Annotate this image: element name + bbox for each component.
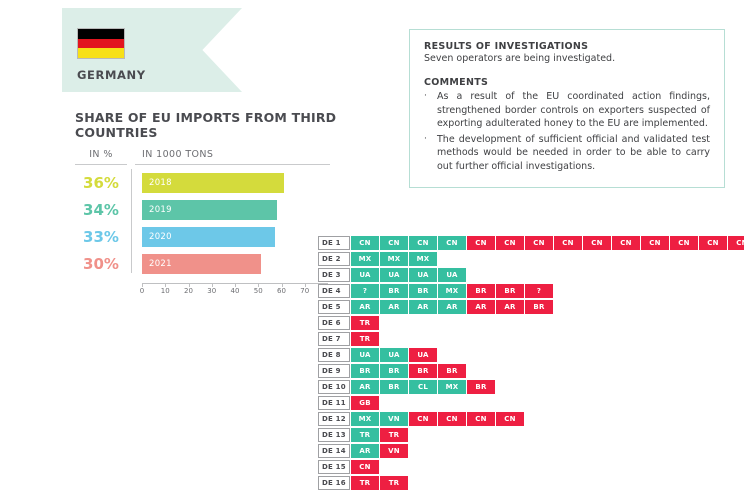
axis-tick-label: 60 — [277, 287, 286, 295]
matrix-cell: ? — [525, 284, 553, 298]
axis-tick-label: 20 — [184, 287, 193, 295]
bars-column: 2018201920202021 — [135, 169, 342, 281]
bar-2019: 2019 — [142, 200, 277, 220]
matrix-cell: BR — [380, 284, 408, 298]
matrix-cell: UA — [351, 348, 379, 362]
matrix-cell: MX — [351, 412, 379, 426]
matrix-row-label: DE 13 — [318, 428, 350, 442]
country-name: GERMANY — [77, 68, 146, 82]
matrix-cell: BR — [438, 364, 466, 378]
matrix-row: DE 14ARVN — [318, 444, 744, 458]
column-divider — [131, 169, 132, 273]
matrix-cell: AR — [380, 300, 408, 314]
results-summary: Seven operators are being investigated. — [424, 53, 710, 64]
matrix-cell: BR — [380, 380, 408, 394]
matrix-cell: ? — [351, 284, 379, 298]
matrix-cell: UA — [438, 268, 466, 282]
axis-tick-label: 30 — [207, 287, 216, 295]
matrix-cell: CN — [467, 412, 495, 426]
matrix-row-label: DE 8 — [318, 348, 350, 362]
matrix-row-label: DE 3 — [318, 268, 350, 282]
matrix-cell: CN — [699, 236, 727, 250]
country-banner: GERMANY — [62, 8, 242, 92]
chart-column-headers: IN % IN 1000 TONS — [75, 149, 365, 169]
chart-x-axis: 01020304050607080 — [142, 283, 328, 298]
comments-heading: COMMENTS — [424, 77, 710, 88]
matrix-cell: MX — [409, 252, 437, 266]
matrix-cell: UA — [409, 268, 437, 282]
axis-tick-label: 50 — [254, 287, 263, 295]
matrix-row: DE 6TR — [318, 316, 744, 330]
matrix-cell: CN — [438, 412, 466, 426]
matrix-cell: AR — [409, 300, 437, 314]
matrix-cell: TR — [351, 316, 379, 330]
matrix-cell: UA — [380, 348, 408, 362]
matrix-cell: CN — [641, 236, 669, 250]
matrix-cell: AR — [496, 300, 524, 314]
bar-label: 2019 — [149, 205, 172, 215]
comment-text: The development of sufficient official a… — [437, 133, 710, 174]
axis-tick-label: 0 — [140, 287, 144, 295]
matrix-cell: TR — [351, 476, 379, 490]
matrix-row: DE 12MXVNCNCNCNCN — [318, 412, 744, 426]
matrix-cell: CN — [438, 236, 466, 250]
comment-item: ·As a result of the EU coordinated actio… — [424, 90, 710, 131]
matrix-row: DE 3UAUAUAUA — [318, 268, 744, 282]
matrix-cell: CN — [380, 236, 408, 250]
flag-stripe-gold — [78, 48, 124, 58]
matrix-cell: UA — [409, 348, 437, 362]
column-header-tons: IN 1000 TONS — [135, 149, 330, 165]
matrix-cell: TR — [351, 428, 379, 442]
matrix-cell: GB — [351, 396, 379, 410]
flag-stripe-red — [78, 39, 124, 49]
matrix-row-label: DE 10 — [318, 380, 350, 394]
matrix-cell: MX — [438, 380, 466, 394]
comments-list: ·As a result of the EU coordinated actio… — [424, 90, 710, 173]
matrix-cell: MX — [438, 284, 466, 298]
bar-label: 2018 — [149, 178, 172, 188]
bar-row: 2021 — [142, 254, 342, 274]
matrix-cell: UA — [351, 268, 379, 282]
matrix-row: DE 2MXMXMX — [318, 252, 744, 266]
matrix-row-label: DE 16 — [318, 476, 350, 490]
matrix-cell: BR — [409, 284, 437, 298]
matrix-cell: AR — [351, 444, 379, 458]
bar-row: 2019 — [142, 200, 342, 220]
matrix-row-label: DE 7 — [318, 332, 350, 346]
percent-column: 36%34%33%30% — [75, 169, 127, 281]
chart-title: SHARE OF EU IMPORTS FROM THIRD COUNTRIES — [62, 110, 362, 140]
column-header-gap — [127, 149, 135, 165]
bar-2018: 2018 — [142, 173, 284, 193]
bar-row: 2018 — [142, 173, 342, 193]
bar-2020: 2020 — [142, 227, 275, 247]
matrix-cell: TR — [380, 428, 408, 442]
left-column: GERMANY SHARE OF EU IMPORTS FROM THIRD C… — [62, 8, 362, 298]
matrix-cell: CN — [525, 236, 553, 250]
operator-origin-matrix: DE 1CNCNCNCNCNCNCNCNCNCNCNCNCNCNDE 2MXMX… — [318, 236, 744, 492]
axis-tick-label: 70 — [300, 287, 309, 295]
bullet-icon: · — [424, 90, 437, 131]
bar-2021: 2021 — [142, 254, 261, 274]
matrix-row: DE 13TRTR — [318, 428, 744, 442]
matrix-row: DE 11GB — [318, 396, 744, 410]
matrix-row-label: DE 4 — [318, 284, 350, 298]
bar-label: 2020 — [149, 232, 172, 242]
bullet-icon: · — [424, 133, 437, 174]
comment-item: ·The development of sufficient official … — [424, 133, 710, 174]
matrix-row-label: DE 11 — [318, 396, 350, 410]
matrix-cell: VN — [380, 444, 408, 458]
comment-text: As a result of the EU coordinated action… — [437, 90, 710, 131]
results-heading: RESULTS OF INVESTIGATIONS — [424, 41, 710, 52]
matrix-cell: CN — [612, 236, 640, 250]
matrix-row: DE 1CNCNCNCNCNCNCNCNCNCNCNCNCNCN — [318, 236, 744, 250]
matrix-row-label: DE 1 — [318, 236, 350, 250]
matrix-cell: BR — [380, 364, 408, 378]
matrix-row-label: DE 12 — [318, 412, 350, 426]
matrix-row-label: DE 15 — [318, 460, 350, 474]
matrix-cell: VN — [380, 412, 408, 426]
results-of-investigations-box: RESULTS OF INVESTIGATIONS Seven operator… — [409, 29, 725, 188]
matrix-cell: MX — [351, 252, 379, 266]
flag-stripe-black — [78, 29, 124, 39]
matrix-cell: AR — [351, 300, 379, 314]
matrix-cell: CN — [583, 236, 611, 250]
matrix-row-label: DE 14 — [318, 444, 350, 458]
matrix-cell: TR — [380, 476, 408, 490]
matrix-row: DE 7TR — [318, 332, 744, 346]
bar-label: 2021 — [149, 259, 172, 269]
matrix-row-label: DE 6 — [318, 316, 350, 330]
percent-value: 33% — [75, 227, 127, 247]
matrix-row-label: DE 2 — [318, 252, 350, 266]
matrix-cell: CN — [409, 412, 437, 426]
percent-value: 34% — [75, 200, 127, 220]
matrix-cell: BR — [467, 284, 495, 298]
matrix-cell: AR — [467, 300, 495, 314]
percent-value: 36% — [75, 173, 127, 193]
matrix-row: DE 9BRBRBRBR — [318, 364, 744, 378]
matrix-cell: CN — [728, 236, 744, 250]
matrix-row: DE 10ARBRCLMXBR — [318, 380, 744, 394]
column-header-percent: IN % — [75, 149, 127, 165]
matrix-cell: MX — [380, 252, 408, 266]
matrix-cell: CN — [496, 412, 524, 426]
matrix-cell: BR — [467, 380, 495, 394]
matrix-cell: CL — [409, 380, 437, 394]
matrix-cell: CN — [554, 236, 582, 250]
matrix-cell: AR — [351, 380, 379, 394]
matrix-cell: BR — [409, 364, 437, 378]
matrix-row: DE 8UAUAUA — [318, 348, 744, 362]
matrix-cell: CN — [351, 236, 379, 250]
matrix-row: DE 15CN — [318, 460, 744, 474]
matrix-cell: CN — [496, 236, 524, 250]
matrix-row: DE 4?BRBRMXBRBR? — [318, 284, 744, 298]
matrix-cell: CN — [409, 236, 437, 250]
matrix-cell: UA — [380, 268, 408, 282]
axis-tick-label: 40 — [231, 287, 240, 295]
bar-row: 2020 — [142, 227, 342, 247]
matrix-cell: CN — [351, 460, 379, 474]
matrix-row-label: DE 5 — [318, 300, 350, 314]
matrix-cell: BR — [351, 364, 379, 378]
percent-value: 30% — [75, 254, 127, 274]
matrix-cell: BR — [525, 300, 553, 314]
matrix-cell: TR — [351, 332, 379, 346]
germany-flag-icon — [77, 28, 125, 59]
matrix-row: DE 16TRTR — [318, 476, 744, 490]
matrix-cell: BR — [496, 284, 524, 298]
matrix-row: DE 5ARARARARARARBR — [318, 300, 744, 314]
matrix-cell: CN — [467, 236, 495, 250]
matrix-cell: AR — [438, 300, 466, 314]
matrix-cell: CN — [670, 236, 698, 250]
axis-tick-label: 10 — [161, 287, 170, 295]
matrix-row-label: DE 9 — [318, 364, 350, 378]
